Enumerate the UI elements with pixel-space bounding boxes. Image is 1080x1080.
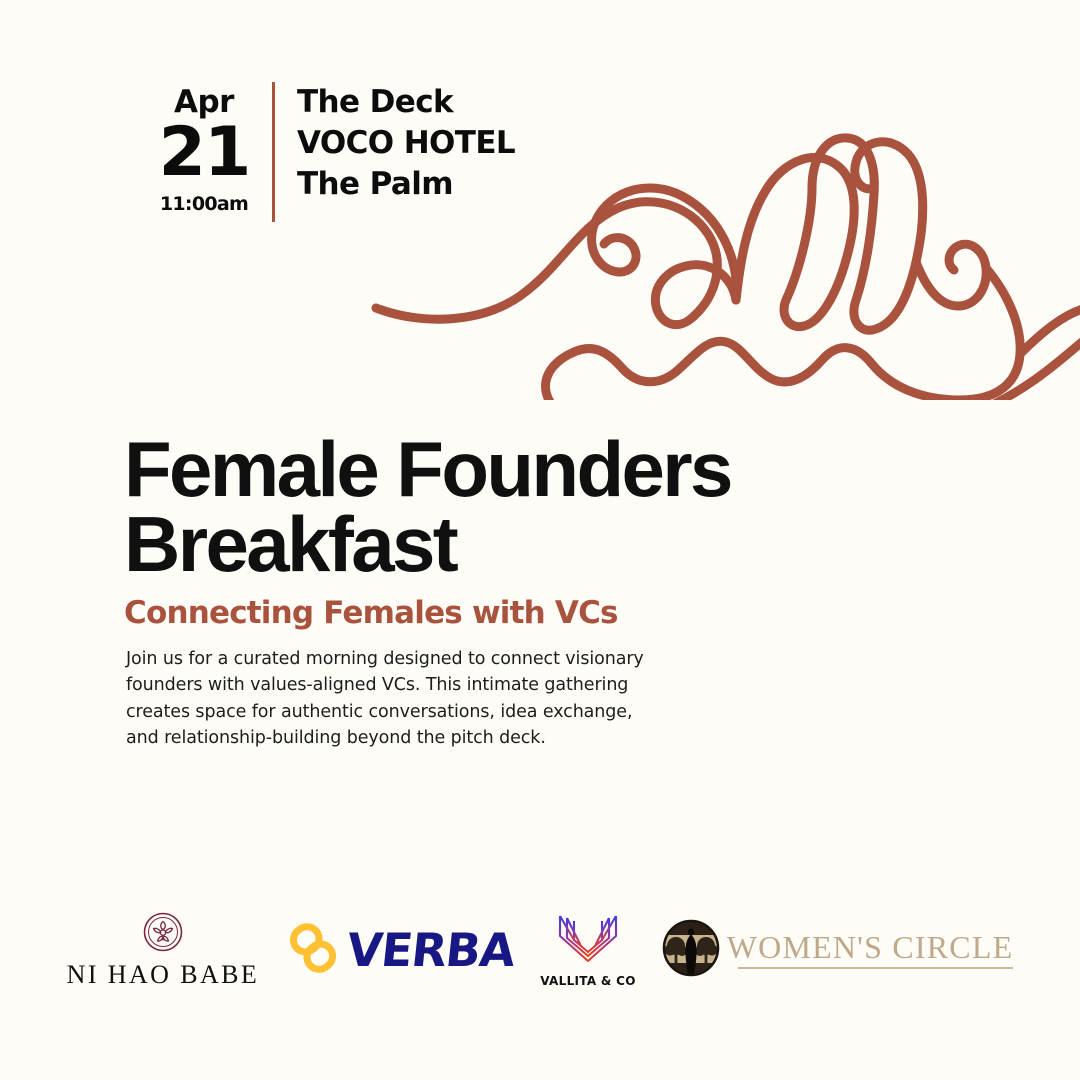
floral-circle-emblem-icon [141, 910, 185, 959]
chain-link-icon [285, 920, 341, 981]
header-divider [272, 82, 275, 222]
date-block: Apr 21 11:00am [150, 78, 258, 214]
event-poster: Apr 21 11:00am The Deck VOCO HOTEL The P… [0, 0, 1080, 1080]
title-line-2: Breakfast [124, 500, 456, 588]
sponsor-name-ni-hao-babe: NI HAO BABE [67, 960, 260, 990]
sponsor-logo-strip: NI HAO BABE VERBA [0, 895, 1080, 1005]
title-block: Female Founders Breakfast Connecting Fem… [124, 432, 824, 630]
sponsor-logo-ni-hao-babe: NI HAO BABE [67, 910, 260, 990]
event-time: 11:00am [150, 195, 258, 214]
sponsor-logo-womens-circle: WOMEN'S CIRCLE [662, 919, 1014, 982]
page-title: Female Founders Breakfast [124, 432, 824, 582]
sponsor-logo-vallita: VALLITA & CO [540, 912, 636, 988]
chevron-v-gradient-icon [555, 912, 621, 973]
wordmark-underline [738, 967, 1013, 969]
circle-figure-trees-emblem-icon [662, 919, 720, 982]
sponsor-wordmark-womens-circle: WOMEN'S CIRCLE [727, 931, 1014, 969]
sponsor-name-womens-circle: WOMEN'S CIRCLE [727, 931, 1014, 965]
monstera-leaf-line-art-icon [360, 110, 1080, 400]
page-subtitle: Connecting Females with VCs [124, 596, 824, 630]
sponsor-name-vallita: VALLITA & CO [540, 974, 636, 988]
event-day: 21 [150, 120, 258, 186]
event-description: Join us for a curated morning designed t… [126, 646, 646, 752]
sponsor-logo-verba: VERBA [285, 920, 514, 981]
sponsor-name-verba: VERBA [345, 927, 517, 973]
